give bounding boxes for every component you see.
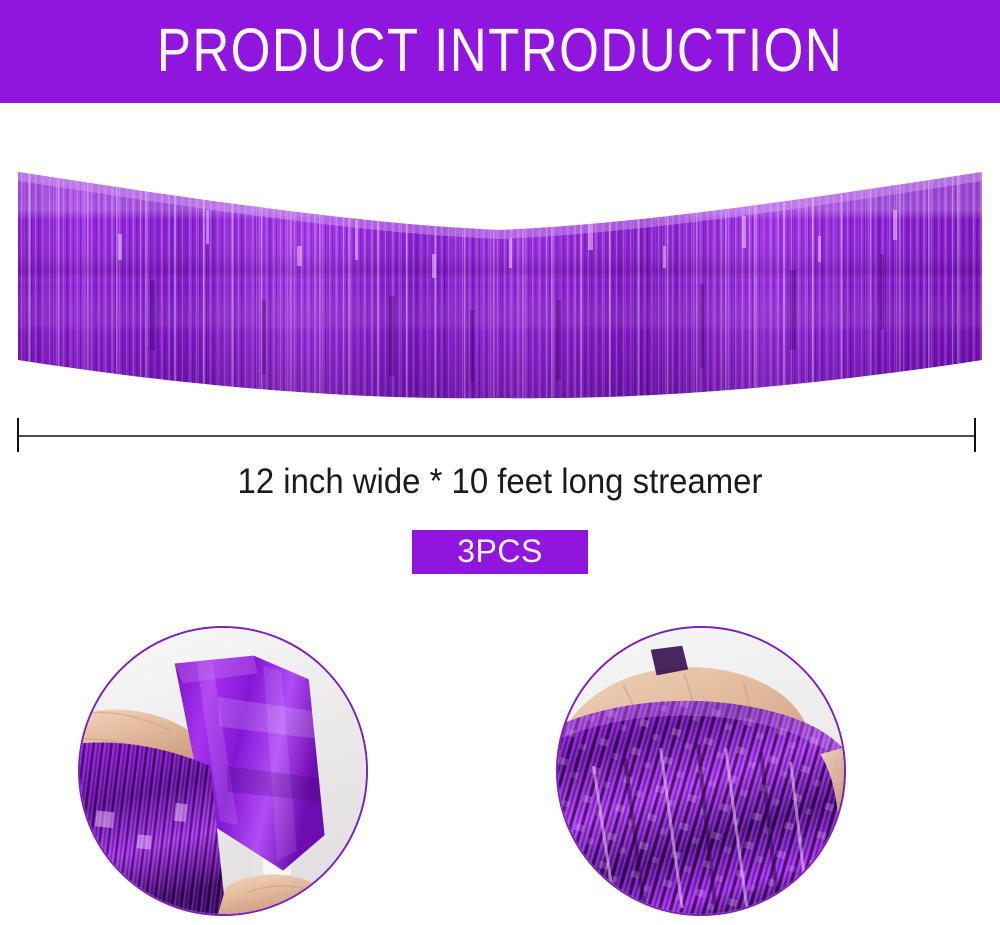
quantity-badge: 3PCS [412, 530, 588, 574]
page-title: PRODUCT INTRODUCTION [157, 20, 843, 82]
product-introduction-page: PRODUCT INTRODUCTION [0, 0, 1000, 925]
detail-photo-hand-peeling-foil [78, 626, 368, 916]
quantity-badge-label: 3PCS [457, 535, 543, 567]
size-caption: 12 inch wide * 10 feet long streamer [30, 462, 970, 502]
detail-left-illustration [80, 628, 366, 914]
detail-photo-hand-holding-fringe [556, 626, 846, 916]
streamer-body [0, 150, 1000, 410]
hero-streamer-image [0, 150, 1000, 410]
header-banner: PRODUCT INTRODUCTION [0, 0, 1000, 103]
detail-right-illustration [558, 628, 844, 914]
dimension-measure-line [0, 412, 1000, 458]
streamer-illustration [0, 150, 1000, 410]
